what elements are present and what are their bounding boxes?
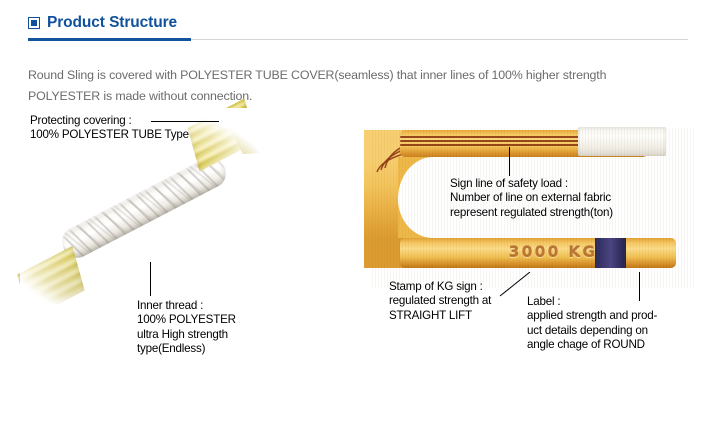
sling-label-patch	[595, 238, 626, 268]
annotation-protecting-covering: Protecting covering : 100% POLYESTER TUB…	[30, 114, 189, 143]
intro-paragraph: Round Sling is covered with POLYESTER TU…	[28, 65, 668, 107]
sign-line-2	[400, 140, 604, 142]
tube-cover-lower-shading	[17, 246, 84, 319]
annotation-stamp-kg: Stamp of KG sign : regulated strength at…	[389, 280, 491, 323]
sign-line-text-3: represent regulated strength(ton)	[450, 206, 613, 220]
sling-white-sleeve	[578, 127, 666, 156]
annotation-label-info: Label : applied strength and prod- uct d…	[527, 295, 657, 352]
stamp-kg-line-1: Stamp of KG sign :	[389, 280, 491, 294]
leader-line-inner-thread	[150, 262, 151, 296]
leader-line-sign-line	[509, 147, 510, 176]
kg-stamp: 3000 KG	[504, 241, 602, 263]
label-info-line-2: applied strength and prod-	[527, 309, 657, 323]
sign-line-text-1: Sign line of safety load :	[450, 177, 613, 191]
inner-thread-core	[57, 152, 231, 263]
sign-line-3	[400, 144, 604, 146]
header-title-row: Product Structure	[28, 12, 688, 34]
inner-thread-line-1: Inner thread :	[137, 299, 236, 313]
inner-thread-line-3: ultra High strength	[137, 328, 236, 342]
annotation-sign-line: Sign line of safety load : Number of lin…	[450, 177, 613, 220]
page-title: Product Structure	[47, 14, 177, 32]
inner-thread-line-2: 100% POLYESTER	[137, 313, 236, 327]
stamp-kg-line-3: STRAIGHT LIFT	[389, 309, 491, 323]
label-info-line-4: angle chage of ROUND	[527, 338, 657, 352]
annotation-inner-thread: Inner thread : 100% POLYESTER ultra High…	[137, 299, 236, 356]
inner-thread-line-4: type(Endless)	[137, 342, 236, 356]
stamp-kg-line-2: regulated strength at	[389, 294, 491, 308]
section-header: Product Structure	[28, 12, 688, 44]
label-info-line-1: Label :	[527, 295, 657, 309]
protecting-covering-line-2: 100% POLYESTER TUBE Type	[30, 128, 189, 142]
product-structure-page: Product Structure Round Sling is covered…	[0, 0, 702, 423]
protecting-covering-line-1: Protecting covering :	[30, 114, 189, 128]
label-info-line-3: uct details depending on	[527, 324, 657, 338]
header-divider-accent	[28, 38, 191, 41]
square-bullet-icon	[28, 17, 40, 29]
header-divider	[28, 38, 688, 41]
sign-line-1	[400, 136, 604, 138]
sign-line-text-2: Number of line on external fabric	[450, 191, 613, 205]
